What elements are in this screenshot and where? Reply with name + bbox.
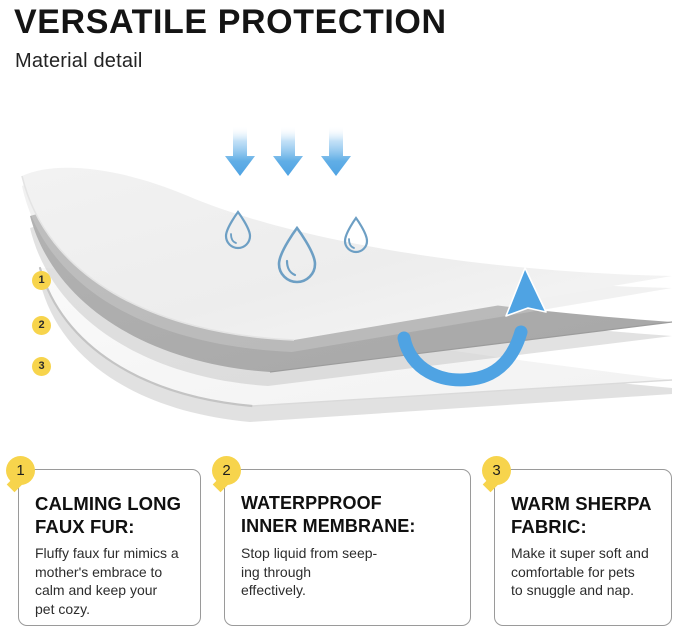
layered-fabric-illustration: 1 2 3 [0, 100, 679, 445]
down-arrows-group [225, 126, 351, 176]
feature-card-1-badge: 1 [6, 456, 35, 485]
feature-card-2-body: WATERPPROOF INNER MEMBRANE: Stop liquid … [241, 492, 462, 600]
down-arrow-2 [273, 126, 303, 176]
feature-card-3-body: WARM SHERPA FABRIC: Make it super soft a… [511, 492, 663, 600]
feature-card-3: 3 WARM SHERPA FABRIC: Make it super soft… [494, 469, 672, 626]
feature-card-3-text: Make it super soft and comfortable for p… [511, 544, 663, 600]
down-arrow-1 [225, 126, 255, 176]
feature-card-1-body: CALMING LONG FAUX FUR: Fluffy faux fur m… [35, 492, 192, 618]
feature-card-2-badge: 2 [212, 456, 241, 485]
feature-card-1-text: Fluffy faux fur mimics a mother's embrac… [35, 544, 192, 618]
feature-cards: 1 CALMING LONG FAUX FUR: Fluffy faux fur… [0, 462, 679, 632]
feature-card-2-text: Stop liquid from seep- ing through effec… [241, 544, 462, 600]
feature-card-2-heading: WATERPPROOF INNER MEMBRANE: [241, 492, 462, 538]
layer-badge-3: 3 [32, 357, 51, 376]
layer-badge-1: 1 [32, 271, 51, 290]
feature-card-1-heading: CALMING LONG FAUX FUR: [35, 492, 192, 538]
feature-card-3-badge: 3 [482, 456, 511, 485]
layer-badge-2: 2 [32, 316, 51, 335]
page-title: VERSATILE PROTECTION [14, 2, 447, 42]
feature-card-3-heading: WARM SHERPA FABRIC: [511, 492, 663, 538]
down-arrow-3 [321, 126, 351, 176]
page-subtitle: Material detail [15, 48, 143, 74]
feature-card-1: 1 CALMING LONG FAUX FUR: Fluffy faux fur… [18, 469, 201, 626]
feature-card-2: 2 WATERPPROOF INNER MEMBRANE: Stop liqui… [224, 469, 471, 626]
